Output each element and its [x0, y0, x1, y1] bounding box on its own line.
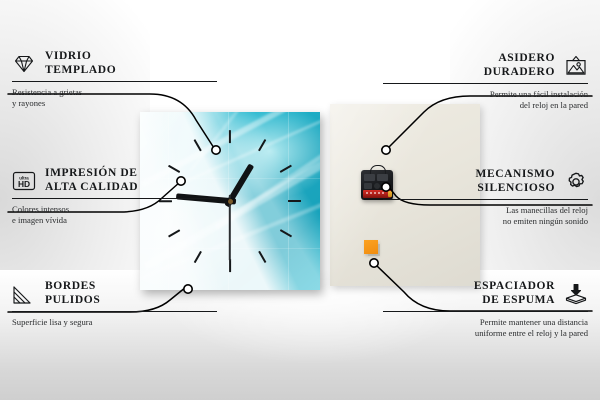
- feature-desc-line2: uniforme entre el reloj y la pared: [383, 328, 588, 339]
- feature-title-line2: ALTA CALIDAD: [45, 181, 138, 195]
- feature-desc-line1: Permite una fácil instalación: [383, 89, 588, 100]
- feature-title-line1: BORDES: [45, 280, 100, 294]
- feature-desc-line1: Colores intensos: [12, 204, 217, 215]
- feature-title-line1: ASIDERO: [498, 52, 555, 66]
- gear-icon: [564, 171, 588, 193]
- diamond-icon: [12, 53, 36, 75]
- feature-vidrio-templado[interactable]: VIDRIO TEMPLADO Resistencia a grietas y …: [12, 50, 217, 109]
- feature-title-line2: DE ESPUMA: [482, 294, 555, 308]
- feature-head: ESPACIADOR DE ESPUMA: [383, 280, 588, 307]
- feature-desc-line1: Resistencia a grietas: [12, 87, 217, 98]
- battery-label: [366, 192, 384, 194]
- feature-head: ultra HD IMPRESIÓN DE ALTA CALIDAD: [12, 167, 217, 194]
- feature-title-line2: TEMPLADO: [45, 64, 116, 78]
- foam-spacer-icon: [564, 283, 588, 305]
- feature-desc: Las manecillas del reloj no emiten ningú…: [383, 205, 588, 227]
- feature-title-line1: MECANISMO: [475, 168, 555, 182]
- feature-rule: [383, 199, 588, 200]
- feature-bordes-pulidos[interactable]: BORDES PULIDOS Superficie lisa y segura: [12, 280, 217, 328]
- clock-center-pivot: [228, 199, 233, 204]
- feature-desc-line1: Las manecillas del reloj: [383, 205, 588, 216]
- foam-spacer-pad: [364, 240, 378, 254]
- feature-desc-line2: del reloj en la pared: [383, 100, 588, 111]
- feature-head: MECANISMO SILENCIOSO: [383, 168, 588, 195]
- feature-title: MECANISMO SILENCIOSO: [475, 168, 555, 195]
- feature-title-line1: IMPRESIÓN DE: [45, 167, 138, 181]
- mechanism-detail: [364, 174, 375, 181]
- feature-title-line2: SILENCIOSO: [477, 182, 555, 196]
- feature-head: ASIDERO DURADERO: [383, 52, 588, 79]
- clock-tick: [288, 200, 301, 202]
- clock-second-hand: [229, 195, 231, 261]
- feature-title: ESPACIADOR DE ESPUMA: [474, 280, 555, 307]
- feature-title-line2: PULIDOS: [45, 294, 100, 308]
- polished-edge-icon: [12, 283, 36, 305]
- feature-rule: [12, 311, 217, 312]
- feature-title-line2: DURADERO: [484, 66, 555, 80]
- svg-text:HD: HD: [18, 179, 30, 189]
- feature-desc: Permite una fácil instalación del reloj …: [383, 89, 588, 111]
- feature-mecanismo-silencioso[interactable]: MECANISMO SILENCIOSO Las manecillas del …: [383, 168, 588, 227]
- feature-impresion-alta-calidad[interactable]: ultra HD IMPRESIÓN DE ALTA CALIDAD Color…: [12, 167, 217, 226]
- feature-rule: [12, 81, 217, 82]
- feature-desc: Permite mantener una distancia uniforme …: [383, 317, 588, 339]
- mechanism-detail: [364, 183, 372, 189]
- feature-asidero-duradero[interactable]: ASIDERO DURADERO Permite una fácil insta…: [383, 52, 588, 111]
- feature-head: BORDES PULIDOS: [12, 280, 217, 307]
- feature-desc: Superficie lisa y segura: [12, 317, 217, 328]
- feature-desc: Resistencia a grietas y rayones: [12, 87, 217, 109]
- mechanism-shaft: [374, 183, 380, 189]
- feature-rule: [383, 83, 588, 84]
- feature-rule: [383, 311, 588, 312]
- feature-title: VIDRIO TEMPLADO: [45, 50, 116, 77]
- feature-desc-line2: no emiten ningún sonido: [383, 216, 588, 227]
- feature-title: BORDES PULIDOS: [45, 280, 100, 307]
- feature-desc: Colores intensos e imagen vívida: [12, 204, 217, 226]
- feature-desc-line1: Permite mantener una distancia: [383, 317, 588, 328]
- feature-title-line1: ESPACIADOR: [474, 280, 555, 294]
- feature-desc-line2: y rayones: [12, 98, 217, 109]
- infographic-stage: VIDRIO TEMPLADO Resistencia a grietas y …: [0, 0, 600, 400]
- feature-desc-line1: Superficie lisa y segura: [12, 317, 217, 328]
- feature-title-line1: VIDRIO: [45, 50, 116, 64]
- feature-desc-line2: e imagen vívida: [12, 215, 217, 226]
- feature-head: VIDRIO TEMPLADO: [12, 50, 217, 77]
- clock-tick: [229, 130, 231, 143]
- feature-title: ASIDERO DURADERO: [484, 52, 555, 79]
- ultra-hd-icon: ultra HD: [12, 170, 36, 192]
- feature-rule: [12, 198, 217, 199]
- feature-title: IMPRESIÓN DE ALTA CALIDAD: [45, 167, 138, 194]
- picture-hanger-icon: [564, 55, 588, 77]
- clock-tick: [229, 259, 231, 272]
- feature-espaciador-espuma[interactable]: ESPACIADOR DE ESPUMA Permite mantener un…: [383, 280, 588, 339]
